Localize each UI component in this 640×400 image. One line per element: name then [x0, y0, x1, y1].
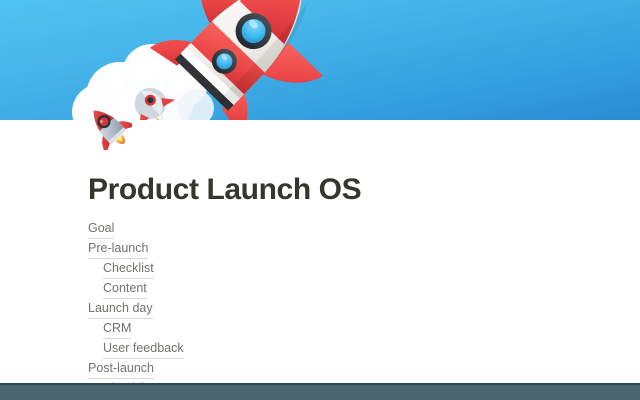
toc-link-checklist-pre-launch[interactable]: Checklist — [103, 258, 154, 279]
toc-row: Content — [88, 278, 558, 298]
toc-row: Checklist — [88, 258, 558, 278]
toc-link-post-launch[interactable]: Post-launch — [88, 358, 154, 379]
bottom-status-bar — [0, 383, 640, 400]
toc-link-content[interactable]: Content — [103, 278, 147, 299]
toc-link-pre-launch[interactable]: Pre-launch — [88, 238, 148, 259]
toc-link-crm[interactable]: CRM — [103, 318, 131, 339]
toc-row: Pre-launch — [88, 238, 558, 258]
toc-row: Post-launch — [88, 358, 558, 378]
toc-row: Goal — [88, 218, 558, 238]
page-icon-rocket[interactable] — [84, 102, 132, 150]
toc-row: CRM — [88, 318, 558, 338]
toc-link-launch-day[interactable]: Launch day — [88, 298, 153, 319]
toc-row: Launch day — [88, 298, 558, 318]
toc-link-goal[interactable]: Goal — [88, 218, 114, 239]
toc-link-user-feedback[interactable]: User feedback — [103, 338, 184, 359]
page-title: Product Launch OS — [88, 172, 361, 208]
page-content: Product Launch OS Goal Pre-launch Checkl… — [0, 120, 640, 400]
rocket-icon — [84, 102, 132, 150]
table-of-contents: Goal Pre-launch Checklist Content Launch… — [88, 218, 558, 398]
toc-row: User feedback — [88, 338, 558, 358]
document-page: Product Launch OS Goal Pre-launch Checkl… — [0, 0, 640, 400]
